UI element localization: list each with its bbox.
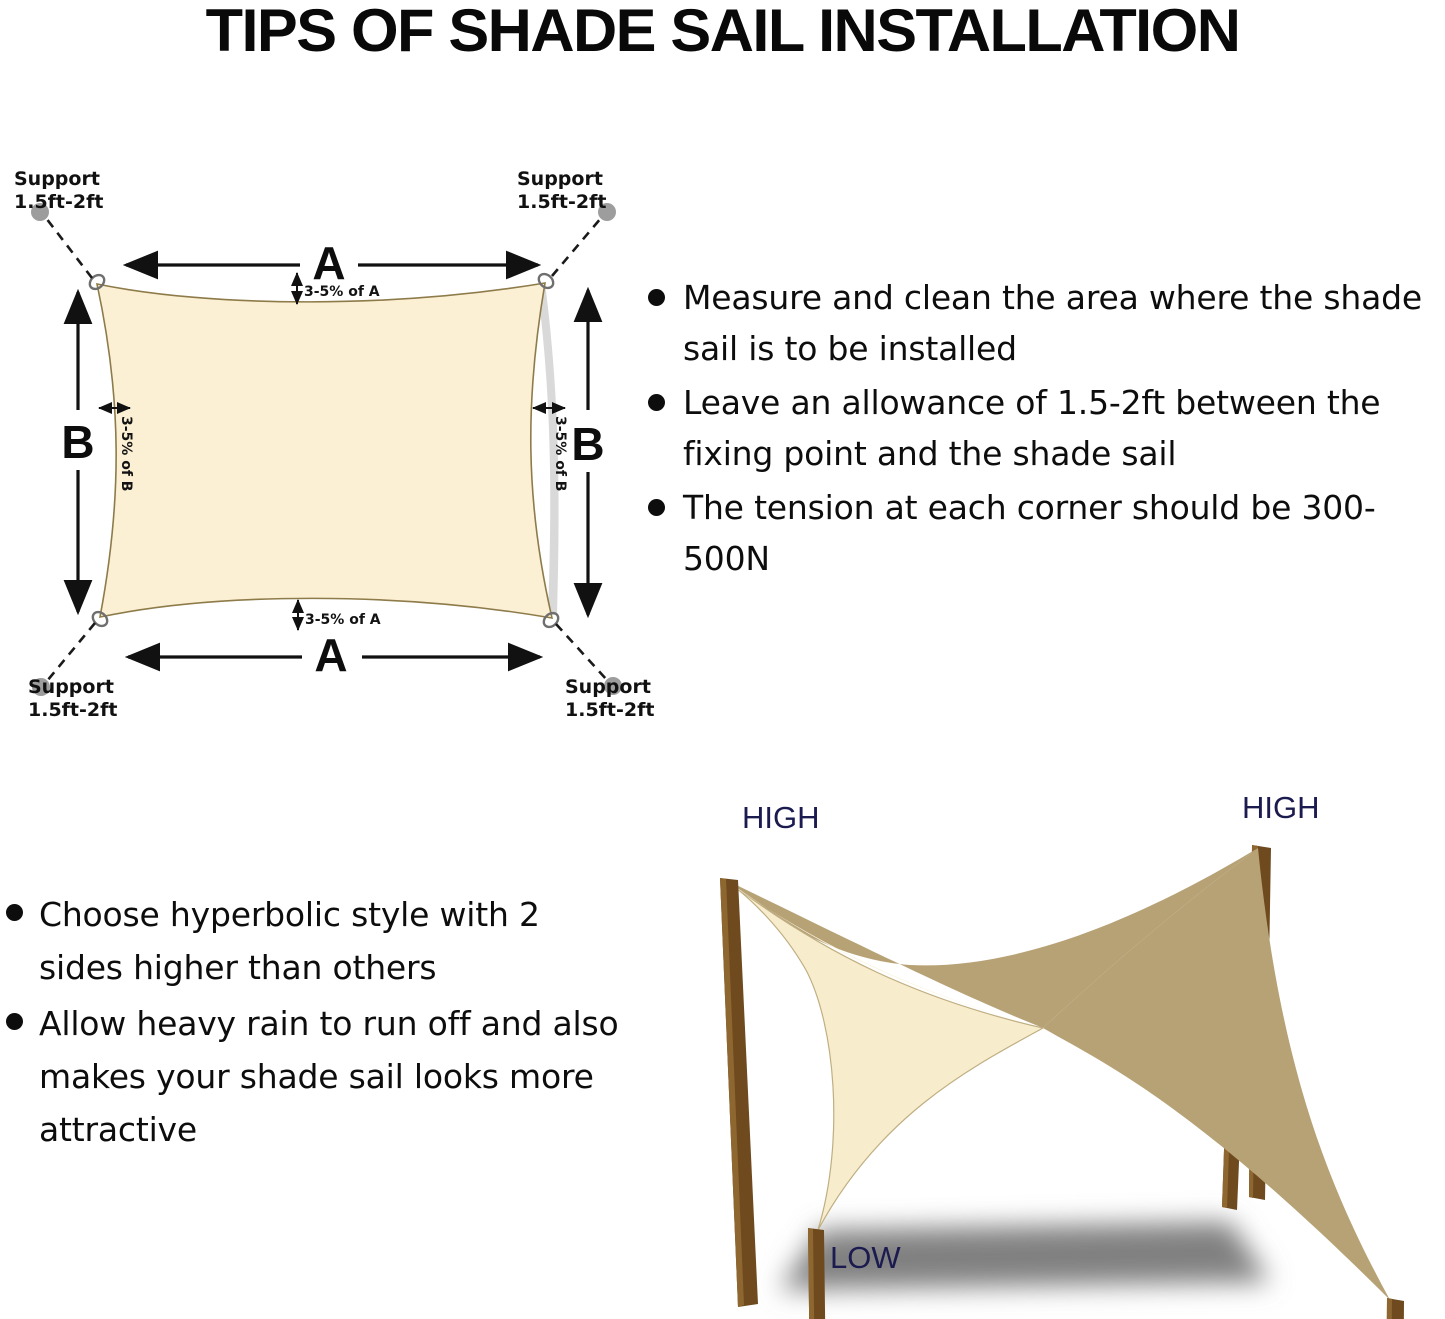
support-label-bottom-right: Support 1.5ft-2ft [565, 676, 654, 721]
tolerance-a-bottom-label: 3-5% of A [305, 612, 381, 628]
list-item: The tension at each corner should be 300… [648, 482, 1445, 584]
tip-text: Measure and clean the area where the sha… [683, 272, 1445, 374]
support-label-bottom-right-line2: 1.5ft-2ft [565, 699, 654, 721]
dimension-b-left: B [61, 292, 94, 612]
dimension-b-left-label: B [61, 416, 94, 468]
dimension-a-bottom-label: A [314, 629, 347, 681]
infographic-page: TIPS OF SHADE SAIL INSTALLATION [0, 0, 1445, 1319]
bullet-dot-icon [648, 499, 665, 516]
tip-text: Choose hyperbolic style with 2 sides hig… [39, 888, 626, 994]
tolerance-b-left-label: 3-5% of B [118, 416, 134, 491]
page-title: TIPS OF SHADE SAIL INSTALLATION [0, 0, 1445, 65]
label-low-front: LOW [830, 1240, 901, 1275]
support-label-top-left: Support 1.5ft-2ft [14, 168, 103, 213]
post-front-low [808, 1228, 826, 1319]
label-high-right: HIGH [1242, 790, 1320, 825]
tips-list-bottom: Choose hyperbolic style with 2 sides hig… [6, 888, 626, 1159]
rect-sail-diagram: A 3-5% of A A 3-5% of A B [0, 160, 660, 730]
dimension-a-top-label: A [312, 237, 345, 289]
sail-body [97, 283, 552, 618]
post-right-low [1385, 1298, 1404, 1319]
support-label-bottom-left-line1: Support [28, 676, 114, 698]
bullet-dot-icon [6, 1013, 23, 1030]
label-high-left: HIGH [742, 800, 820, 835]
tips-list-top: Measure and clean the area where the sha… [648, 272, 1445, 587]
dimension-b-right-label: B [571, 418, 604, 470]
support-label-bottom-left-line2: 1.5ft-2ft [28, 699, 117, 721]
list-item: Choose hyperbolic style with 2 sides hig… [6, 888, 626, 994]
list-item: Measure and clean the area where the sha… [648, 272, 1445, 374]
tip-text: Leave an allowance of 1.5-2ft between th… [683, 377, 1445, 479]
hyperbolic-sail-diagram: HIGH HIGH LOW LOW [630, 770, 1445, 1319]
tolerance-a-bottom: 3-5% of A [298, 600, 381, 630]
tolerance-a-top-label: 3-5% of A [304, 284, 380, 300]
dimension-a-bottom: A [128, 629, 540, 681]
tolerance-b-right-label: 3-5% of B [552, 416, 568, 491]
bullet-dot-icon [648, 289, 665, 306]
support-label-bottom-left: Support 1.5ft-2ft [28, 676, 117, 721]
dimension-b-right: B [571, 290, 604, 615]
list-item: Leave an allowance of 1.5-2ft between th… [648, 377, 1445, 479]
post-left-high [720, 878, 758, 1307]
list-item: Allow heavy rain to run off and also mak… [6, 997, 626, 1156]
support-label-top-right: Support 1.5ft-2ft [517, 168, 606, 213]
support-label-bottom-right-line1: Support [565, 676, 651, 698]
tip-text: Allow heavy rain to run off and also mak… [39, 997, 626, 1156]
support-label-top-left-line2: 1.5ft-2ft [14, 191, 103, 213]
sail-front-cream [726, 880, 1043, 1230]
dimension-a-top: A [126, 237, 538, 289]
support-label-top-right-line2: 1.5ft-2ft [517, 191, 606, 213]
tip-text: The tension at each corner should be 300… [683, 482, 1445, 584]
bullet-dot-icon [6, 904, 23, 921]
support-label-top-right-line1: Support [517, 168, 603, 190]
support-label-top-left-line1: Support [14, 168, 100, 190]
bullet-dot-icon [648, 394, 665, 411]
